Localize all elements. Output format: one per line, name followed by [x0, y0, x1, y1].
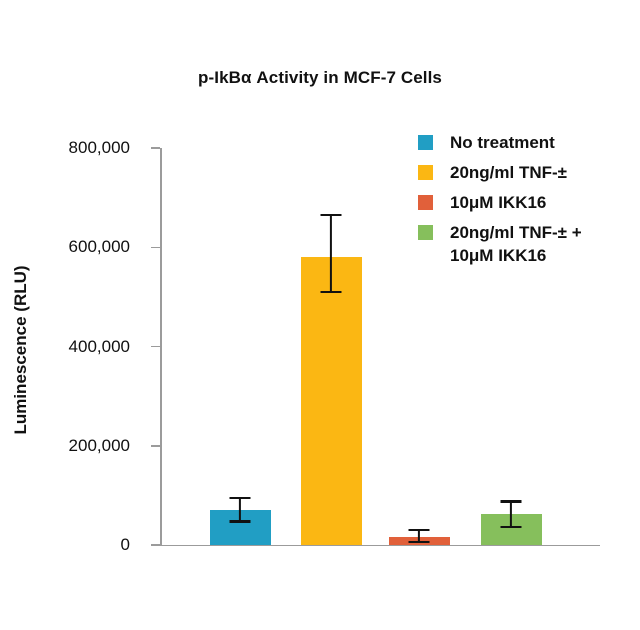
y-tick-mark: [151, 247, 160, 249]
legend-item[interactable]: 20ng/ml TNF-±: [418, 161, 633, 184]
y-tick-label: 400,000: [12, 337, 130, 357]
y-tick-label: 200,000: [12, 436, 130, 456]
chart-title: p-IkBα Activity in MCF-7 Cells: [0, 68, 640, 88]
legend-swatch-icon: [418, 195, 433, 210]
y-tick-label: 800,000: [12, 138, 130, 158]
error-bar-stem: [330, 215, 332, 292]
legend-swatch-icon: [418, 135, 433, 150]
legend-label: 10μM IKK16: [450, 191, 546, 214]
error-bar-cap-lower: [501, 526, 522, 529]
error-bar-cap-upper: [409, 529, 430, 532]
y-axis-spine: [160, 148, 162, 545]
error-bar-cap-upper: [501, 500, 522, 503]
chart-legend: No treatment20ng/ml TNF-±10μM IKK1620ng/…: [418, 131, 633, 274]
y-tick-mark: [151, 147, 160, 149]
error-bar-cap-upper: [321, 214, 342, 217]
error-bar-cap-lower: [230, 520, 251, 523]
legend-label: 20ng/ml TNF-± + 10μM IKK16: [450, 221, 582, 267]
legend-label: 20ng/ml TNF-±: [450, 161, 567, 184]
error-bar-cap-lower: [321, 291, 342, 294]
chart-figure: p-IkBα Activity in MCF-7 Cells Luminesce…: [0, 0, 640, 630]
y-tick-label: 600,000: [12, 237, 130, 257]
bar: [301, 257, 362, 545]
legend-item[interactable]: 10μM IKK16: [418, 191, 633, 214]
legend-swatch-icon: [418, 225, 433, 240]
legend-label: No treatment: [450, 131, 555, 154]
error-bar-stem: [239, 498, 241, 522]
error-bar-cap-lower: [409, 541, 430, 544]
legend-item[interactable]: 20ng/ml TNF-± + 10μM IKK16: [418, 221, 633, 267]
error-bar-cap-upper: [230, 497, 251, 500]
error-bar-stem: [510, 501, 512, 527]
y-tick-label: 0: [12, 535, 130, 555]
legend-item[interactable]: No treatment: [418, 131, 633, 154]
legend-swatch-icon: [418, 165, 433, 180]
y-tick-mark: [151, 346, 160, 348]
y-tick-mark: [151, 445, 160, 447]
y-tick-mark: [151, 544, 160, 546]
